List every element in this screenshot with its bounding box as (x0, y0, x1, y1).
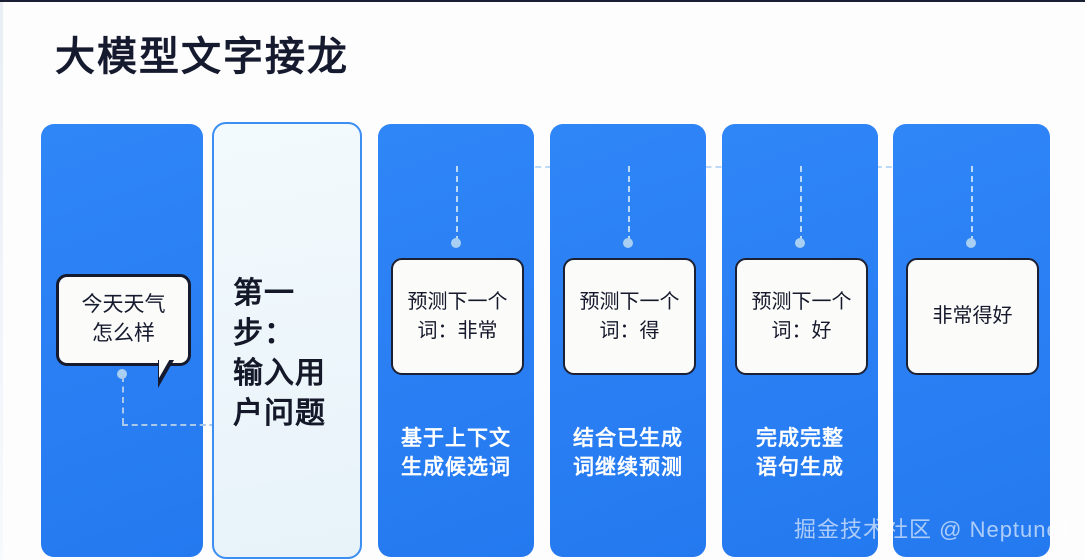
box-predict-de: 预测下一个 词：得 (563, 258, 696, 375)
question-speech-bubble: 今天天气 怎么样 (56, 274, 191, 366)
connector-vline-card6 (971, 166, 973, 242)
connector-dot-card4 (623, 238, 633, 248)
connector-dot-card6 (966, 238, 976, 248)
question-bubble-text: 今天天气 怎么样 (82, 291, 166, 349)
box-predict-de-text: 预测下一个 词：得 (580, 288, 680, 346)
connector-vline-card5 (800, 166, 802, 242)
caption-predict-feichang: 基于上下文 生成候选词 (383, 424, 529, 483)
box-predict-feichang-text: 预测下一个 词：非常 (408, 288, 508, 346)
connector-dot-card5 (795, 238, 805, 248)
caption-predict-hao: 完成完整 语句生成 (727, 424, 873, 483)
box-final-sentence-text: 非常得好 (933, 302, 1013, 331)
connector-vline-card3 (456, 166, 458, 242)
box-predict-feichang: 预测下一个 词：非常 (391, 258, 524, 375)
speech-bubble-tail-icon (158, 360, 174, 388)
box-predict-hao: 预测下一个 词：好 (735, 258, 868, 375)
step-one-text: 第一步： 输入用 户问题 (233, 274, 353, 434)
connector-vline-bubble (122, 376, 124, 424)
box-final-sentence: 非常得好 (906, 258, 1039, 375)
caption-predict-de: 结合已生成 词继续预测 (555, 424, 701, 483)
slide-canvas: 大模型文字接龙 今天天气 怎么样 第一步： 输入用 户问题 预测下一个 词：非常… (0, 0, 1085, 560)
page-title: 大模型文字接龙 (55, 24, 349, 82)
box-predict-hao-text: 预测下一个 词：好 (752, 288, 852, 346)
connector-dot-card3 (451, 238, 461, 248)
watermark: 掘金技术社区 @ Neptune1 (794, 512, 1073, 544)
connector-vline-card4 (628, 166, 630, 242)
